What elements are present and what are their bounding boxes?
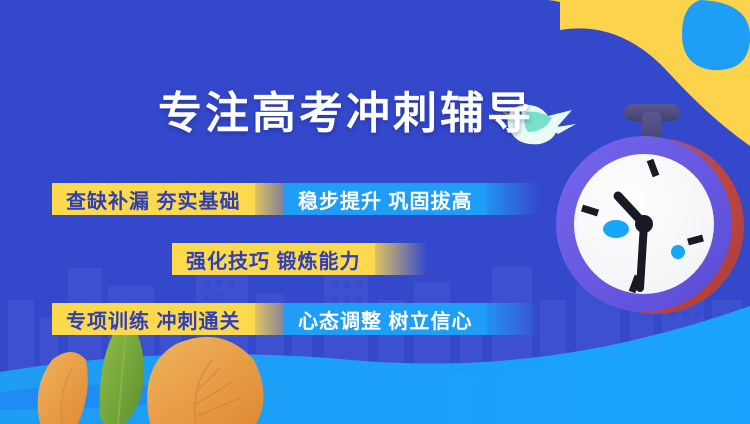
feature-pill-3-label: 强化技巧 锻炼能力: [186, 245, 361, 274]
feature-pill-1-label: 查缺补漏 夯实基础: [66, 185, 241, 214]
feature-pill-5[interactable]: 心态调整 树立信心: [284, 303, 487, 335]
bottom-wave-deep-blue: [0, 340, 750, 424]
clock-dot-right: [671, 245, 685, 259]
feature-pill-3[interactable]: 强化技巧 锻炼能力: [172, 243, 375, 275]
feature-pill-4-label: 专项训练 冲刺通关: [66, 305, 241, 334]
feature-pill-1[interactable]: 查缺补漏 夯实基础: [52, 183, 255, 215]
page-title: 专注高考冲刺辅导: [158, 86, 534, 142]
feature-pill-5-label: 心态调整 树立信心: [298, 305, 473, 334]
feature-pill-4[interactable]: 专项训练 冲刺通关: [52, 303, 255, 335]
clock-dot-left: [603, 220, 629, 238]
alarm-clock-icon: [546, 96, 746, 322]
feature-pill-2[interactable]: 稳步提升 巩固拔高: [284, 183, 487, 215]
feature-pill-2-label: 稳步提升 巩固拔高: [298, 185, 473, 214]
promo-banner: 专注高考冲刺辅导 查缺补漏 夯实基础 稳步提升 巩固拔高 强化技巧 锻炼能力 专…: [0, 0, 750, 424]
cyan-blob-shape: [682, 0, 750, 70]
